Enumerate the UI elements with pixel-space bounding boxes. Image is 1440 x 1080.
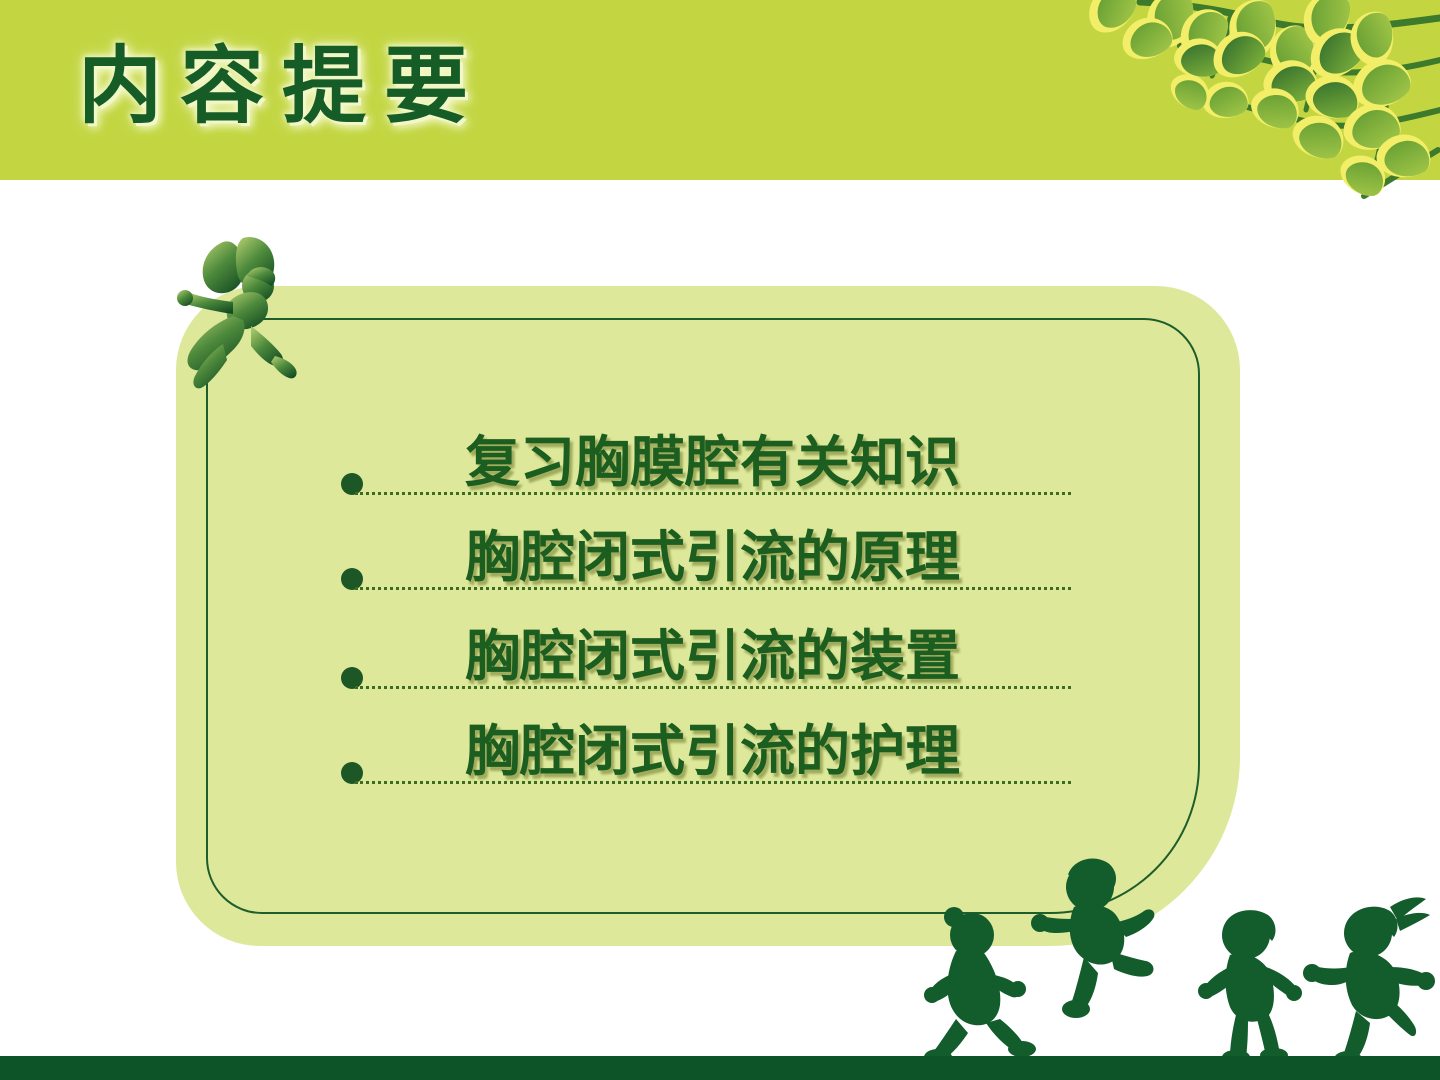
bullet-label: 胸腔闭式引流的原理 [465, 525, 960, 589]
bullet-label: 胸腔闭式引流的护理 [465, 719, 960, 783]
bullet-label: 复习胸膜腔有关知识 [465, 430, 960, 494]
bullet-list: 复习胸膜腔有关知识 胸腔闭式引流的原理 胸腔闭式引流的装置 胸腔闭式引流的护理 [336, 430, 1096, 810]
footer-bar [0, 1056, 1440, 1080]
page-title: 内容提要 [78, 38, 486, 135]
list-item[interactable]: 胸腔闭式引流的装置 [336, 624, 1071, 720]
slide-canvas: 内容提要 [0, 0, 1440, 1080]
list-item[interactable]: 胸腔闭式引流的护理 [336, 719, 1071, 815]
list-item[interactable]: 胸腔闭式引流的原理 [336, 525, 1071, 621]
bullet-label: 胸腔闭式引流的装置 [465, 624, 960, 688]
list-item[interactable]: 复习胸膜腔有关知识 [336, 430, 1071, 526]
